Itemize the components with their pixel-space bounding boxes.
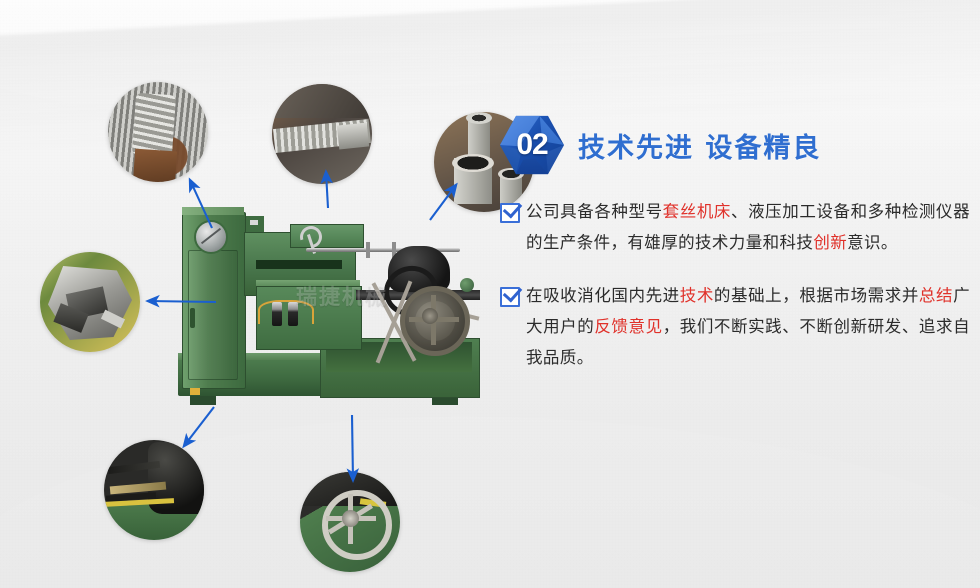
section-number-badge: 02 xyxy=(500,114,564,176)
promo-banner: 瑞捷机械 02 技术先进 设备精良 xyxy=(0,0,980,588)
machine-gauge-dial xyxy=(194,220,228,254)
section-title: 技术先进 设备精良 xyxy=(578,126,821,165)
bullet-text-2: 在吸收消化国内先进技术的基础上，根据市场需求并总结广大用户的反馈意见，我们不断实… xyxy=(526,280,970,373)
detail-photo-threaded-rod xyxy=(272,84,372,184)
detail-photo-threaded-bolt-end xyxy=(108,82,208,182)
detail-photo-die-head-chuck xyxy=(40,252,140,352)
image-watermark: 瑞捷机械 xyxy=(282,282,402,312)
thread-rolling-machine-photo: 瑞捷机械 xyxy=(160,190,490,415)
bullet-list: 公司具备各种型号套丝机床、液压加工设备和多种检测仪器的生产条件，有雄厚的技术力量… xyxy=(500,196,970,373)
list-item: 在吸收消化国内先进技术的基础上，根据市场需求并总结广大用户的反馈意见，我们不断实… xyxy=(500,280,970,373)
detail-photo-hydraulic-hoses xyxy=(104,440,204,540)
detail-photo-handwheel xyxy=(300,472,400,572)
checkbox-checked-icon xyxy=(500,203,520,223)
section-number: 02 xyxy=(500,114,564,176)
section-header: 02 技术先进 设备精良 xyxy=(500,112,970,178)
list-item: 公司具备各种型号套丝机床、液压加工设备和多种检测仪器的生产条件，有雄厚的技术力量… xyxy=(500,196,970,258)
content-panel: 02 技术先进 设备精良 公司具备各种型号套丝机床、液压加工设备和多种检测仪器的… xyxy=(500,112,970,395)
arrow-to-detail-6 xyxy=(352,415,353,480)
bullet-text-1: 公司具备各种型号套丝机床、液压加工设备和多种检测仪器的生产条件，有雄厚的技术力量… xyxy=(526,196,970,258)
checkbox-checked-icon xyxy=(500,287,520,307)
